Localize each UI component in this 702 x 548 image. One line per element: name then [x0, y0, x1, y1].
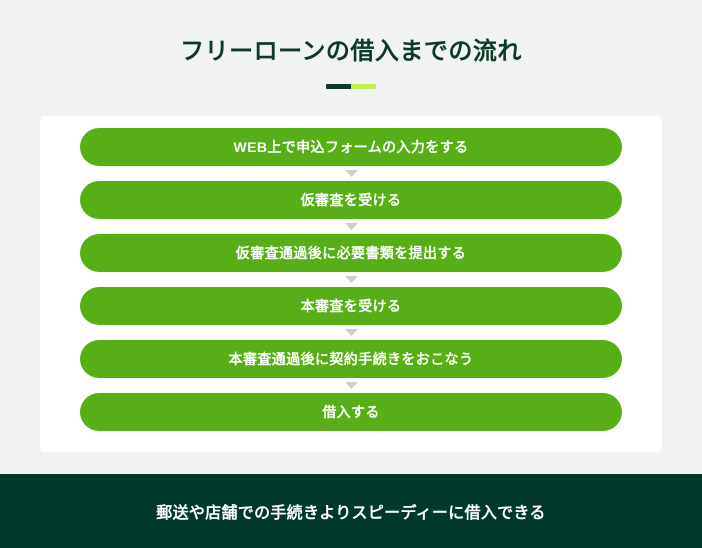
flow-step-5: 本審査通過後に契約手続きをおこなう — [80, 340, 622, 378]
flow-step-pill[interactable]: 本審査通過後に契約手続きをおこなう — [80, 340, 622, 378]
footer-message: 郵送や店舗での手続きよりスピーディーに借入できる — [156, 499, 545, 523]
triangle-down-icon — [345, 170, 358, 177]
flow-step-3: 仮審査通過後に必要書類を提出する — [80, 234, 622, 272]
flow-arrow-5 — [80, 378, 622, 393]
title-underline-accent — [326, 84, 376, 89]
title-underline-light-segment — [351, 84, 376, 89]
triangle-down-icon — [345, 382, 358, 389]
triangle-down-icon — [345, 276, 358, 283]
page-title: フリーローンの借入までの流れ — [0, 38, 702, 67]
flow-step-pill[interactable]: WEB上で申込フォームの入力をする — [80, 128, 622, 166]
flow-step-list: WEB上で申込フォームの入力をする 仮審査を受ける 仮審査通過後に必要書類を提出… — [80, 128, 622, 431]
flow-step-6: 借入する — [80, 393, 622, 431]
triangle-down-icon — [345, 329, 358, 336]
title-underline-dark-segment — [326, 84, 351, 89]
flow-arrow-4 — [80, 325, 622, 340]
footer-banner: 郵送や店舗での手続きよりスピーディーに借入できる — [0, 474, 702, 548]
flow-arrow-2 — [80, 219, 622, 234]
flow-arrow-3 — [80, 272, 622, 287]
flow-step-pill[interactable]: 仮審査通過後に必要書類を提出する — [80, 234, 622, 272]
flow-arrow-1 — [80, 166, 622, 181]
flow-step-pill[interactable]: 借入する — [80, 393, 622, 431]
flow-step-pill[interactable]: 本審査を受ける — [80, 287, 622, 325]
triangle-down-icon — [345, 223, 358, 230]
header: フリーローンの借入までの流れ — [0, 0, 702, 89]
flow-step-2: 仮審査を受ける — [80, 181, 622, 219]
flow-step-1: WEB上で申込フォームの入力をする — [80, 128, 622, 166]
flow-step-pill[interactable]: 仮審査を受ける — [80, 181, 622, 219]
flow-card: WEB上で申込フォームの入力をする 仮審査を受ける 仮審査通過後に必要書類を提出… — [40, 116, 662, 452]
flow-step-4: 本審査を受ける — [80, 287, 622, 325]
